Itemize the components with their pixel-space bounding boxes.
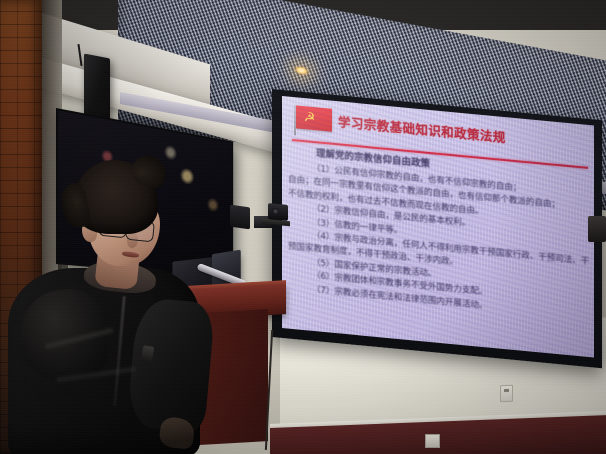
party-flag-icon: ☭: [296, 105, 332, 131]
projection-screen: ☭ 学习宗教基础知识和政策法规 理解党的宗教信仰自由政策 （1）公民有信仰宗教的…: [282, 96, 594, 357]
floor-outlet-box: [425, 434, 440, 448]
display-mount: [230, 205, 250, 230]
side-equipment: [588, 216, 606, 242]
slide-body: （1）公民有信仰宗教的自由，也有不信仰宗教的自由； 自由；在同一宗教里有信仰这个…: [288, 161, 590, 324]
ceiling-light-icon: [294, 65, 309, 77]
screenshot-root: ☭ 学习宗教基础知识和政策法规 理解党的宗教信仰自由政策 （1）公民有信仰宗教的…: [0, 0, 606, 454]
presenter: [0, 150, 230, 454]
flag-pole-icon: [294, 105, 296, 135]
hammer-sickle-icon: ☭: [302, 110, 317, 126]
camera-icon: [268, 203, 288, 221]
slide-title: 学习宗教基础知识和政策法规: [338, 111, 506, 146]
wall-outlet: [500, 385, 513, 402]
